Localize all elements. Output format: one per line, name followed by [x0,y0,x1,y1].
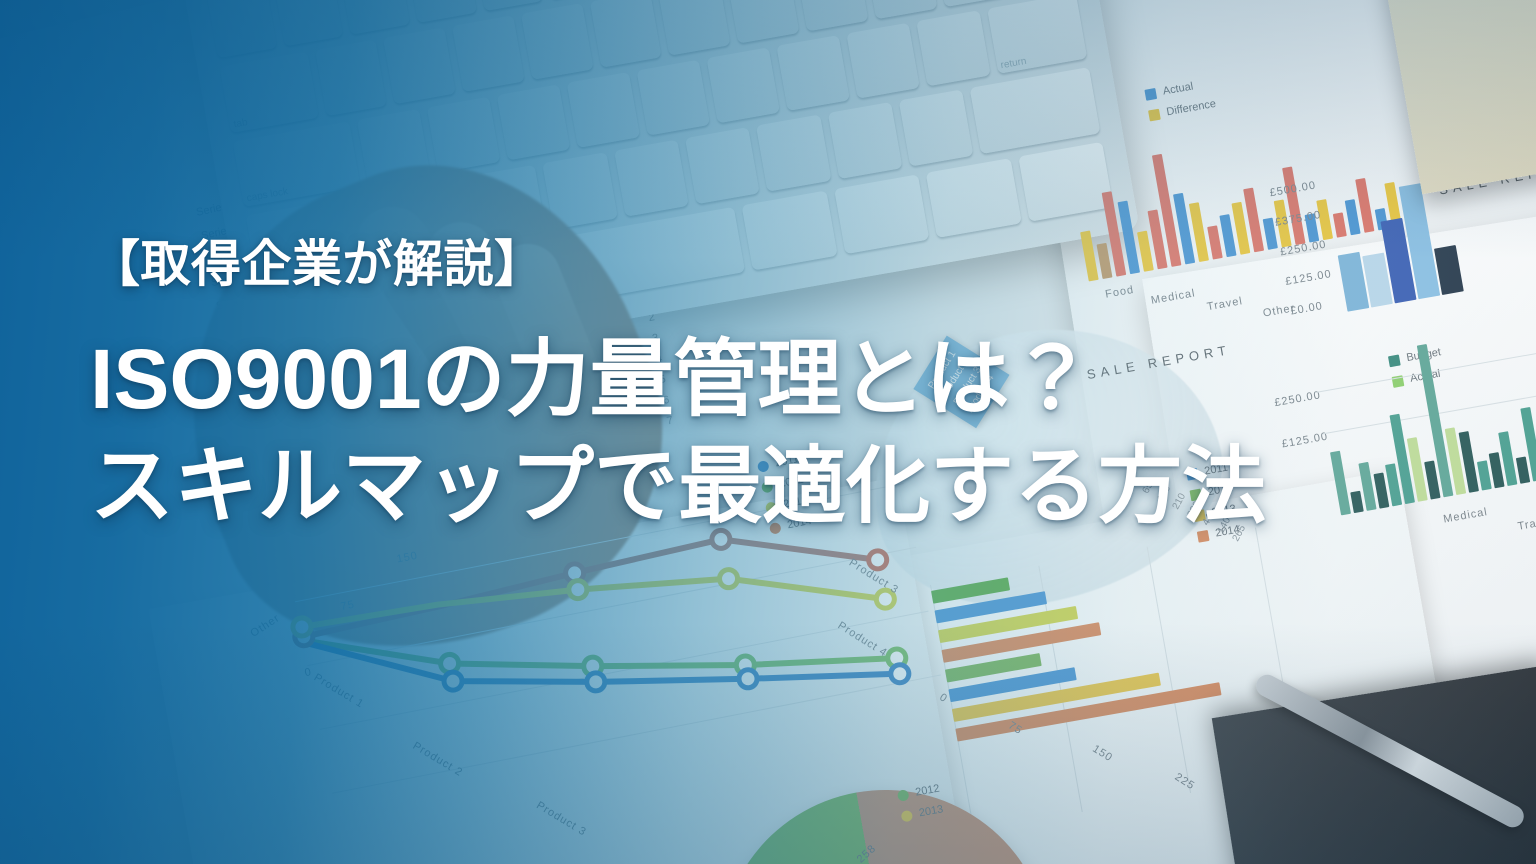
eyebrow-label: 【取得企業が解説】 [90,236,1490,294]
banner-copy: 【取得企業が解説】 ISO9001の力量管理とは？ スキルマップで最適化する方法 [90,236,1490,541]
title-line-2: スキルマップで最適化する方法 [90,433,1490,541]
page-title: ISO9001の力量管理とは？ スキルマップで最適化する方法 [90,326,1490,541]
title-line-1: ISO9001の力量管理とは？ [90,326,1490,434]
hero-banner: 1 2 3 4 5 6 7 Series1 Series2 Series3 Se… [0,0,1536,864]
